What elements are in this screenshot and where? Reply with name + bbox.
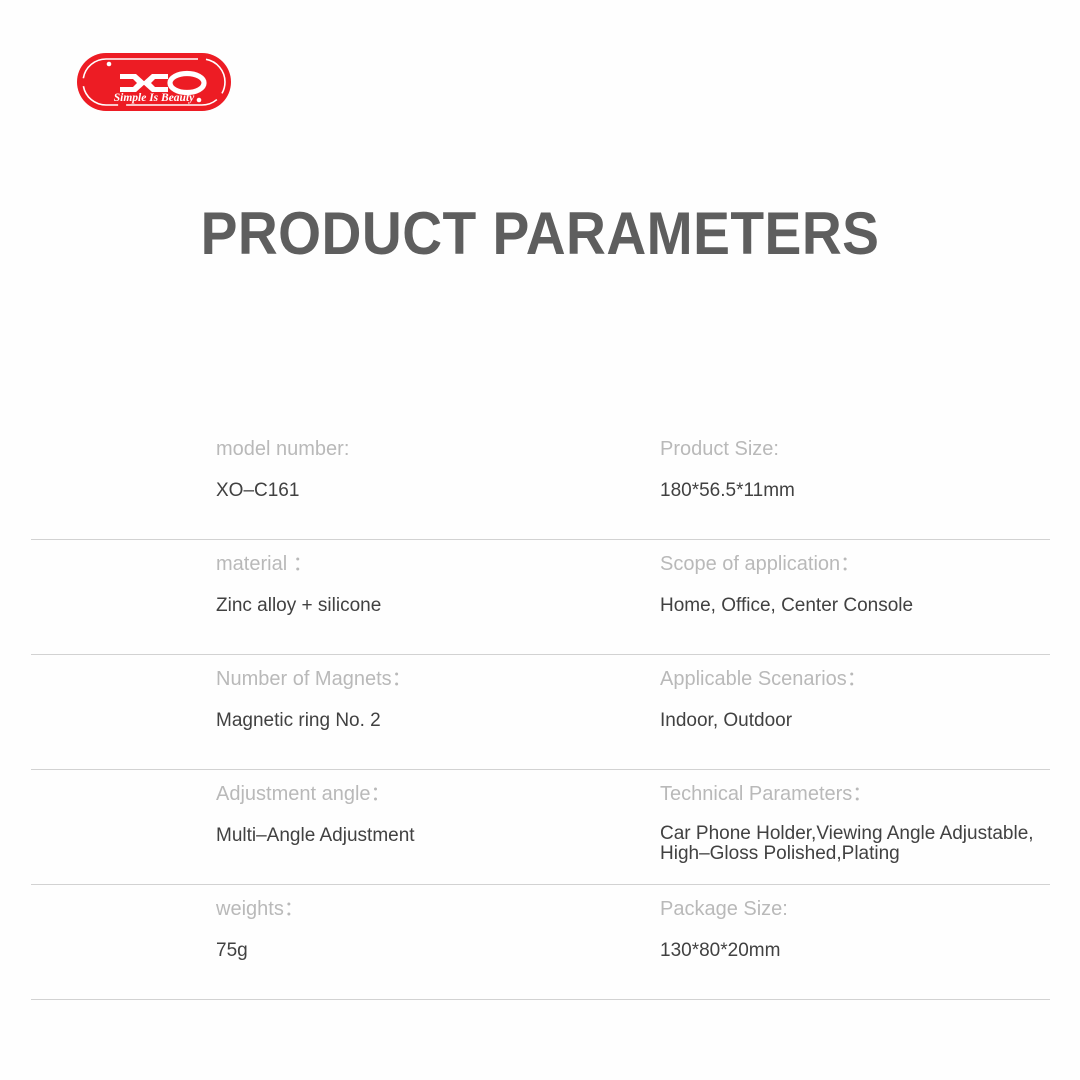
spec-label: Applicable Scenarios： (660, 667, 1060, 691)
spec-label: weights： (216, 897, 636, 921)
spec-label: Adjustment angle： (216, 782, 636, 806)
spec-cell-adjustment-angle: Adjustment angle： Multi–Angle Adjustment (216, 770, 636, 847)
spec-cell-scope-of-application: Scope of application： Home, Office, Cent… (660, 540, 1060, 617)
table-row: Number of Magnets： Magnetic ring No. 2 A… (31, 655, 1050, 770)
table-row: weights： 75g Package Size: 130*80*20mm (31, 885, 1050, 1000)
spec-value: Multi–Angle Adjustment (216, 824, 636, 847)
spec-cell-weights: weights： 75g (216, 885, 636, 962)
table-row: material ： Zinc alloy + silicone Scope o… (31, 540, 1050, 655)
spec-cell-product-size: Product Size: 180*56.5*11mm (660, 425, 1060, 502)
spec-label: Scope of application： (660, 552, 1060, 576)
product-parameters-table: model number: XO–C161 Product Size: 180*… (31, 425, 1050, 1000)
page-title: PRODUCT PARAMETERS (43, 198, 1037, 270)
spec-cell-applicable-scenarios: Applicable Scenarios： Indoor, Outdoor (660, 655, 1060, 732)
spec-cell-model-number: model number: XO–C161 (216, 425, 636, 502)
spec-cell-material: material ： Zinc alloy + silicone (216, 540, 636, 617)
spec-value: Home, Office, Center Console (660, 594, 1060, 617)
spec-label: Package Size: (660, 897, 1060, 921)
spec-value: Car Phone Holder,Viewing Angle Adjustabl… (660, 824, 1060, 864)
spec-label: model number: (216, 437, 636, 461)
spec-cell-technical-parameters: Technical Parameters： Car Phone Holder,V… (660, 770, 1060, 864)
table-row: Adjustment angle： Multi–Angle Adjustment… (31, 770, 1050, 885)
logo-tagline: Simple Is Beauty (114, 92, 195, 104)
spec-label: Product Size: (660, 437, 1060, 461)
spec-cell-package-size: Package Size: 130*80*20mm (660, 885, 1060, 962)
xo-logo: Simple Is Beauty (76, 52, 232, 112)
spec-label: Number of Magnets： (216, 667, 636, 691)
spec-value: Indoor, Outdoor (660, 709, 1060, 732)
xo-logo-svg: Simple Is Beauty (76, 52, 232, 112)
spec-value: 180*56.5*11mm (660, 479, 1060, 502)
table-row: model number: XO–C161 Product Size: 180*… (31, 425, 1050, 540)
spec-label: Technical Parameters： (660, 782, 1060, 806)
spec-value: XO–C161 (216, 479, 636, 502)
spec-label: material ： (216, 552, 636, 576)
spec-value: Zinc alloy + silicone (216, 594, 636, 617)
spec-value: Magnetic ring No. 2 (216, 709, 636, 732)
spec-cell-number-of-magnets: Number of Magnets： Magnetic ring No. 2 (216, 655, 636, 732)
spec-value: 130*80*20mm (660, 939, 1060, 962)
spec-value: 75g (216, 939, 636, 962)
